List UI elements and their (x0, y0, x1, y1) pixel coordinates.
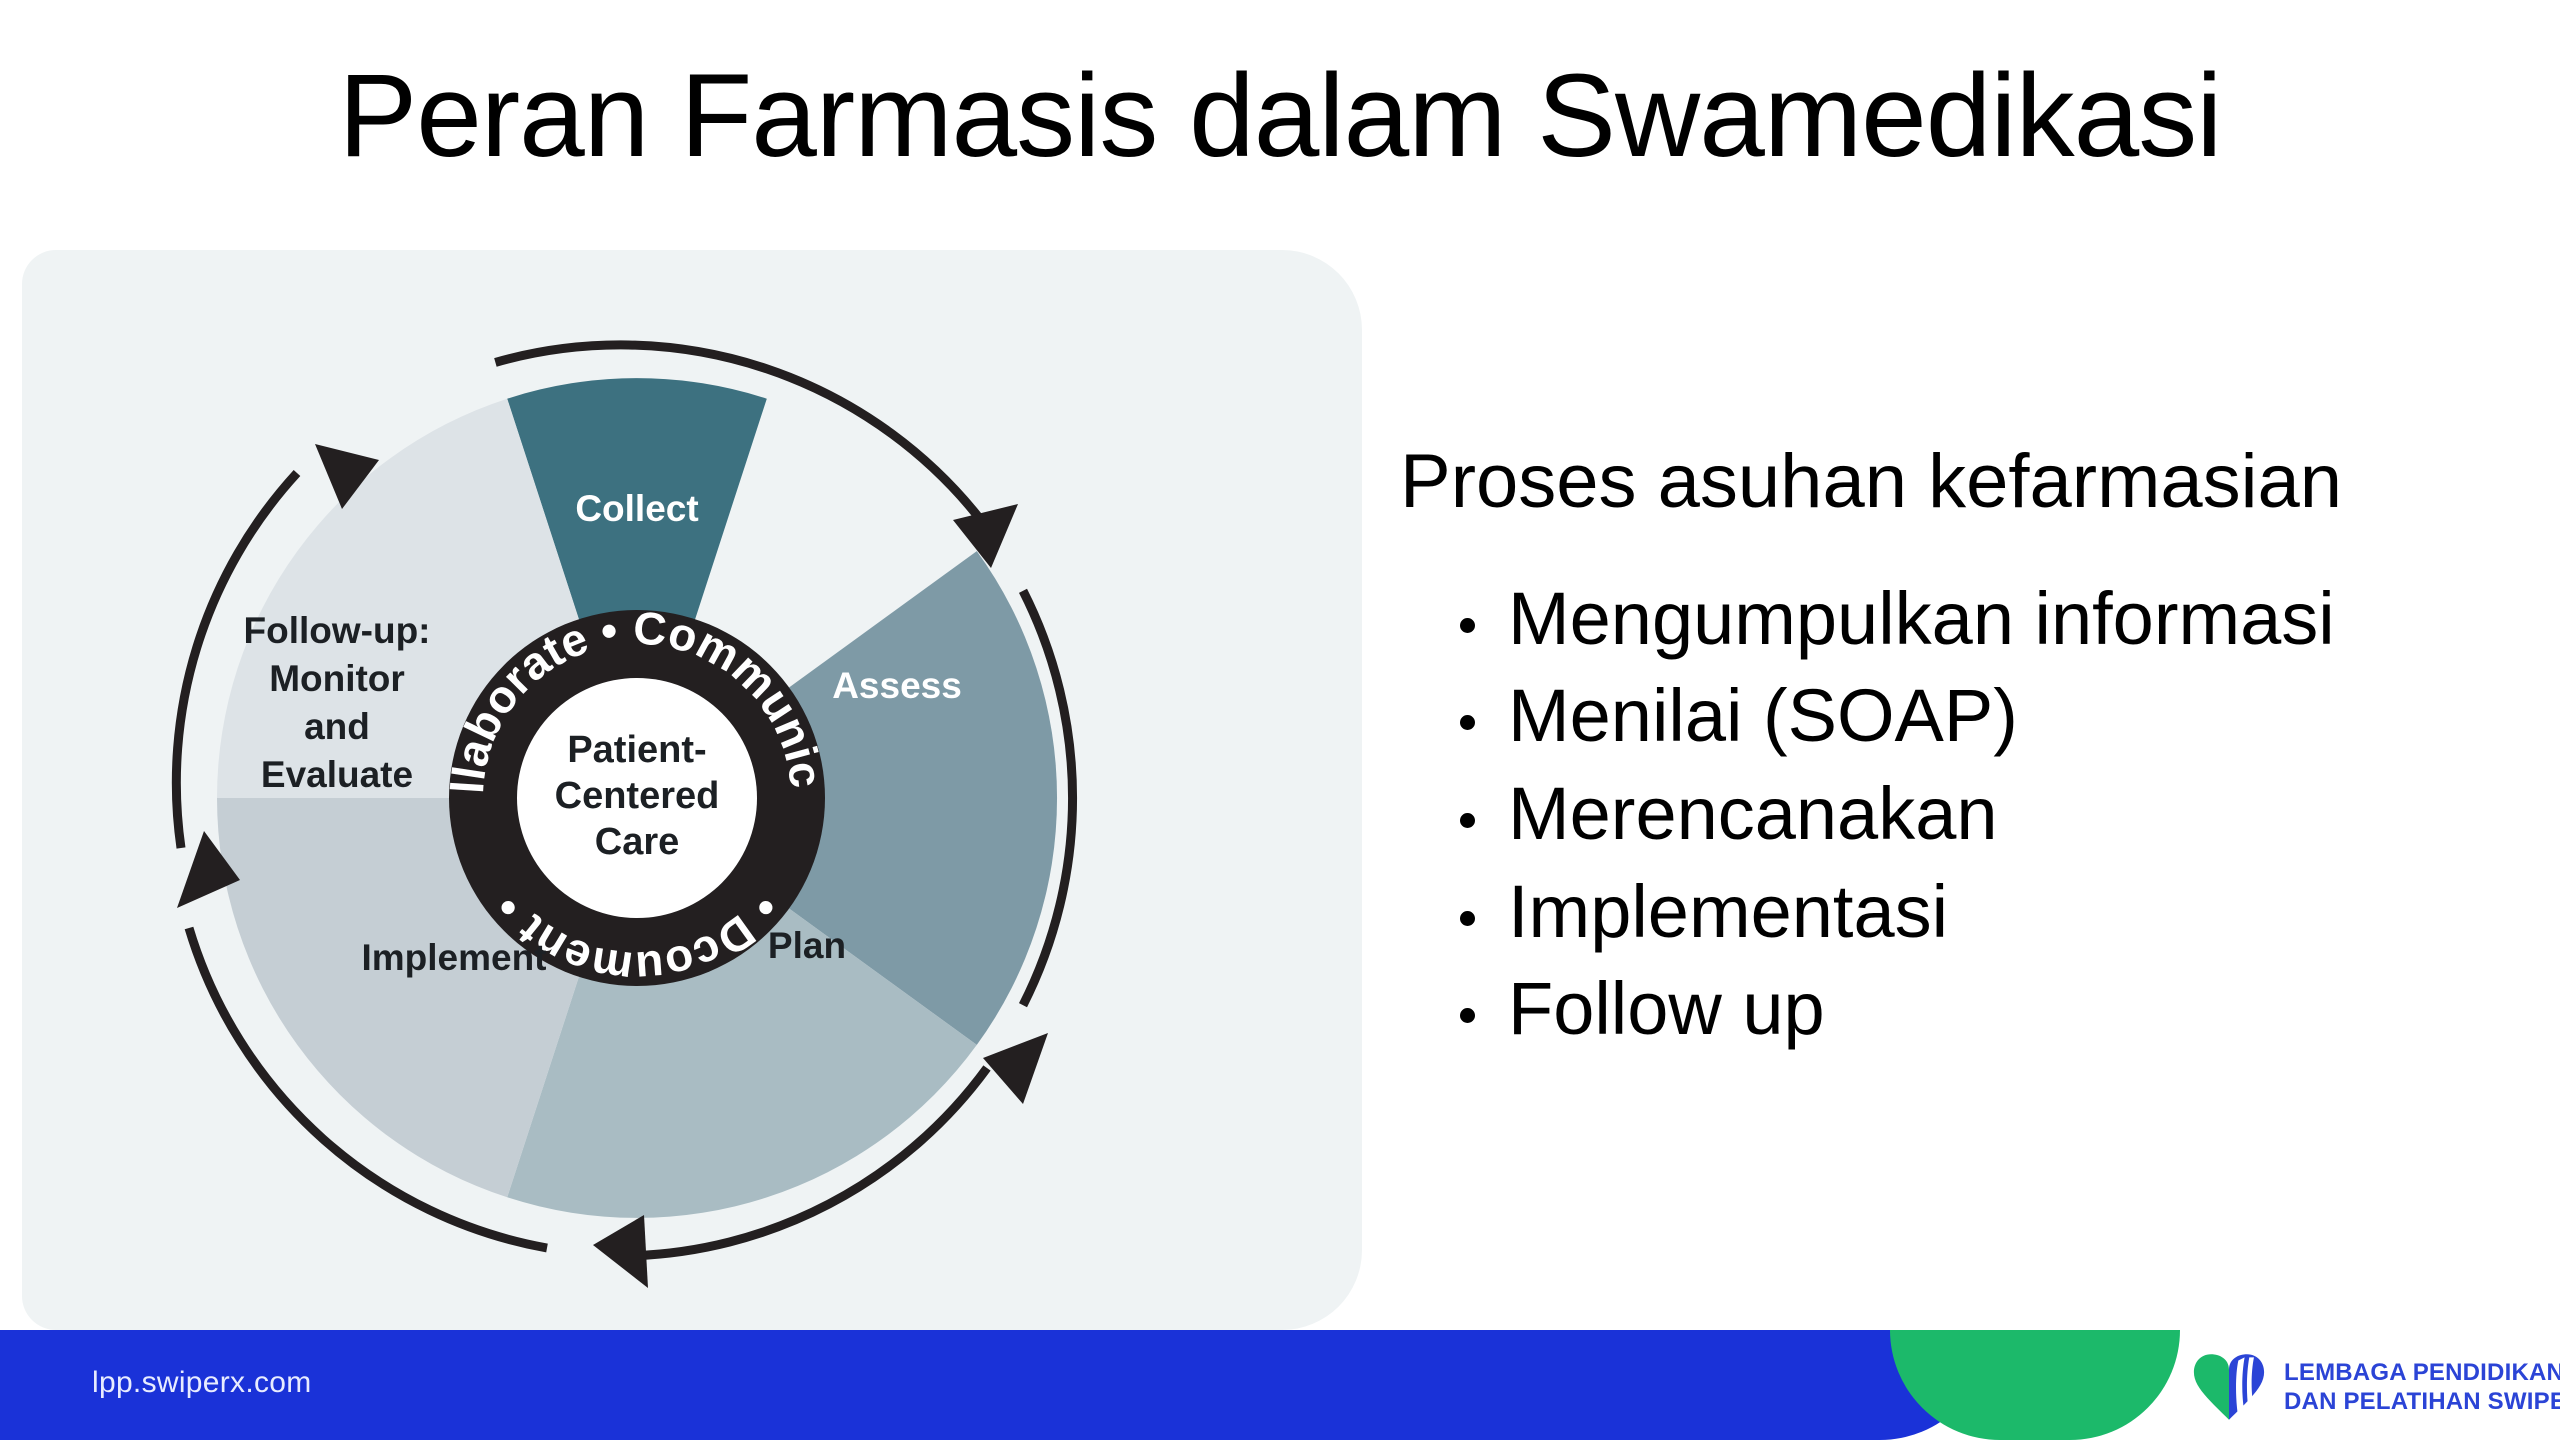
bullet-dot-icon (1460, 618, 1475, 633)
hub-line-2: Centered (555, 775, 720, 817)
list-item-label: Menilai (SOAP) (1508, 674, 2018, 757)
bullet-dot-icon (1460, 813, 1475, 828)
page-title: Peran Farmasis dalam Swamedikasi (0, 55, 2560, 179)
logo-line-1: LEMBAGA PENDIDIKAN (2284, 1358, 2560, 1387)
list-item: Menilai (SOAP) (1454, 667, 2540, 765)
followup-line-3: and (304, 706, 370, 747)
list-item: Implementasi (1454, 863, 2540, 961)
footer-url[interactable]: lpp.swiperx.com (92, 1366, 312, 1400)
hub-line-3: Care (595, 821, 680, 863)
list-item: Mengumpulkan informasi (1454, 570, 2540, 668)
brand-logo: LEMBAGA PENDIDIKAN DAN PELATIHAN SWIPERX (2190, 1348, 2560, 1426)
list-item-label: Follow up (1508, 967, 1825, 1050)
list-item: Follow up (1454, 960, 2540, 1058)
slide-canvas: Peran Farmasis dalam Swamedikasi (0, 0, 2560, 1440)
segment-label-assess: Assess (832, 665, 962, 706)
hub-line-1: Patient- (567, 729, 706, 771)
list-item: Merencanakan (1454, 765, 2540, 863)
logo-text: LEMBAGA PENDIDIKAN DAN PELATIHAN SWIPERX (2284, 1358, 2560, 1417)
content-heading: Proses asuhan kefarmasian (1400, 440, 2540, 524)
list-item-label: Implementasi (1508, 870, 1948, 953)
logo-line-2: DAN PELATIHAN SWIPERX (2284, 1387, 2560, 1416)
followup-line-2: Monitor (269, 658, 405, 699)
segment-label-collect: Collect (575, 488, 698, 529)
footer: lpp.swiperx.com (0, 1330, 2560, 1440)
bullet-dot-icon (1460, 1008, 1475, 1023)
process-bullet-list: Mengumpulkan informasi Menilai (SOAP) Me… (1400, 570, 2540, 1058)
list-item-label: Merencanakan (1508, 772, 1998, 855)
heart-logo-icon (2190, 1348, 2268, 1426)
diagram-panel: Collaborate • Communicate • Dcoument • P… (22, 250, 1362, 1330)
content-column: Proses asuhan kefarmasian Mengumpulkan i… (1400, 440, 2540, 1058)
followup-line-4: Evaluate (261, 754, 413, 795)
bullet-dot-icon (1460, 911, 1475, 926)
followup-line-1: Follow-up: (244, 610, 431, 651)
patient-care-process-wheel: Collaborate • Communicate • Dcoument • P… (107, 268, 1167, 1328)
segment-label-implement: Implement (361, 937, 546, 978)
segment-label-plan: Plan (768, 925, 846, 966)
list-item-label: Mengumpulkan informasi (1508, 577, 2335, 660)
bullet-dot-icon (1460, 715, 1475, 730)
